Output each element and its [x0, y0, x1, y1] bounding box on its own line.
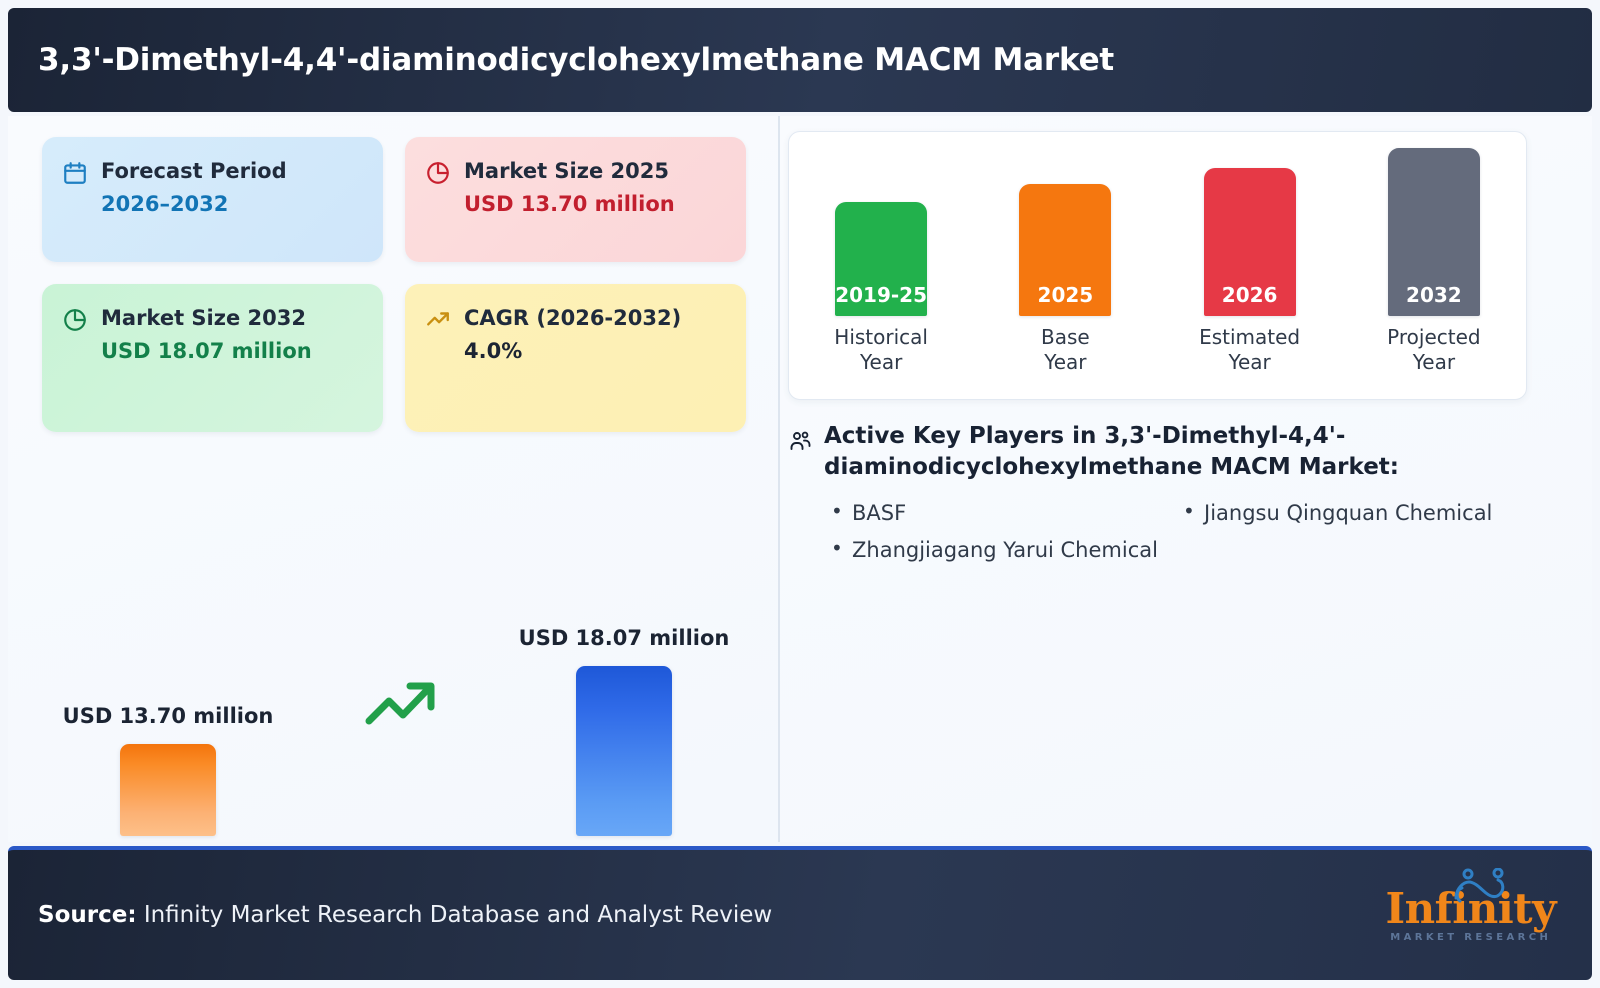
key-players-title: Active Key Players in 3,3'-Dimethyl-4,4'…: [824, 421, 1496, 484]
timeline-card: 2019-25 Historical Year 2025 Base: [788, 131, 1527, 400]
key-players-column-right: Jiangsu Qingquan Chemical: [1176, 498, 1528, 572]
kpi-header: Forecast Period: [62, 158, 361, 186]
timeline-caption-line2: Year: [1041, 350, 1090, 375]
timeline-bar: 2032: [1388, 148, 1480, 316]
timeline-caption-line2: Year: [1199, 350, 1300, 375]
pie-chart-icon: [62, 307, 88, 333]
key-players-header: Active Key Players in 3,3'-Dimethyl-4,4'…: [788, 421, 1528, 484]
kpi-card-grid: Forecast Period 2026–2032 Market Size: [42, 137, 746, 432]
logo-tagline: MARKET RESEARCH: [1385, 933, 1556, 943]
kpi-header: CAGR (2026-2032): [425, 305, 724, 333]
bar-value-label: USD 13.70 million: [48, 704, 288, 728]
chart-bar-group-2032: USD 18.07 million 2032: [504, 626, 744, 873]
timeline-bar-year: 2026: [1222, 283, 1278, 316]
timeline-item-historical: 2019-25 Historical Year: [806, 202, 956, 375]
timeline-bars: 2019-25 Historical Year 2025 Base: [789, 147, 1526, 375]
timeline-bar-year: 2019-25: [835, 283, 927, 316]
timeline-caption: Historical Year: [834, 325, 928, 375]
kpi-label: Market Size 2032: [101, 305, 306, 332]
timeline-caption: Estimated Year: [1199, 325, 1300, 375]
kpi-value: 4.0%: [425, 338, 724, 365]
kpi-label: Market Size 2025: [464, 158, 669, 185]
timeline-bar: 2019-25: [835, 202, 927, 316]
key-players-section: Active Key Players in 3,3'-Dimethyl-4,4'…: [788, 421, 1528, 572]
footer-bar: Source: Infinity Market Research Databas…: [8, 846, 1592, 980]
timeline-caption: Projected Year: [1387, 325, 1480, 375]
body-area: Forecast Period 2026–2032 Market Size: [8, 116, 1592, 842]
kpi-card-cagr: CAGR (2026-2032) 4.0%: [405, 284, 746, 432]
kpi-label: Forecast Period: [101, 158, 287, 185]
timeline-item-base: 2025 Base Year: [990, 184, 1140, 375]
bar-value-label: USD 18.07 million: [504, 626, 744, 650]
timeline-caption-line1: Projected: [1387, 325, 1480, 350]
timeline-bar-year: 2025: [1038, 283, 1094, 316]
pie-chart-icon: [425, 160, 451, 186]
key-players-column-left: BASF Zhangjiagang Yarui Chemical: [824, 498, 1176, 572]
calendar-icon: [62, 160, 88, 186]
page-title: 3,3'-Dimethyl-4,4'-diaminodicyclohexylme…: [8, 42, 1114, 78]
kpi-value: USD 18.07 million: [62, 338, 361, 365]
infinity-people-icon: [1446, 868, 1520, 906]
timeline-item-projected: 2032 Projected Year: [1359, 148, 1509, 375]
growth-arrow-icon: [363, 674, 439, 734]
timeline-bar-year: 2032: [1406, 283, 1462, 316]
list-item: Jiangsu Qingquan Chemical: [1176, 498, 1528, 528]
kpi-card-market-size-2025: Market Size 2025 USD 13.70 million: [405, 137, 746, 262]
trending-up-icon: [425, 307, 451, 333]
people-icon: [788, 429, 812, 453]
kpi-card-market-size-2032: Market Size 2032 USD 18.07 million: [42, 284, 383, 432]
timeline-bar: 2025: [1019, 184, 1111, 316]
source-text: Infinity Market Research Database and An…: [137, 902, 773, 928]
kpi-value: USD 13.70 million: [425, 191, 724, 218]
timeline-caption-line2: Year: [834, 350, 928, 375]
left-panel: Forecast Period 2026–2032 Market Size: [8, 116, 778, 842]
timeline-caption-line1: Base: [1041, 325, 1090, 350]
infographic-root: 3,3'-Dimethyl-4,4'-diaminodicyclohexylme…: [0, 0, 1600, 988]
kpi-label: CAGR (2026-2032): [464, 305, 681, 332]
kpi-header: Market Size 2025: [425, 158, 724, 186]
list-item: BASF: [824, 498, 1176, 528]
timeline-caption-line1: Estimated: [1199, 325, 1300, 350]
source-attribution: Source: Infinity Market Research Databas…: [8, 902, 772, 928]
source-label: Source:: [38, 902, 137, 928]
list-item: Zhangjiagang Yarui Chemical: [824, 535, 1176, 565]
timeline-caption-line1: Historical: [834, 325, 928, 350]
header-bar: 3,3'-Dimethyl-4,4'-diaminodicyclohexylme…: [8, 8, 1592, 112]
kpi-card-forecast-period: Forecast Period 2026–2032: [42, 137, 383, 262]
bar-2025: [120, 744, 216, 836]
brand-logo: Infinity MARKET RESEARCH: [1385, 888, 1592, 943]
timeline-item-estimated: 2026 Estimated Year: [1175, 168, 1325, 375]
right-panel: 2019-25 Historical Year 2025 Base: [780, 116, 1592, 842]
timeline-caption-line2: Year: [1387, 350, 1480, 375]
key-players-columns: BASF Zhangjiagang Yarui Chemical Jiangsu…: [788, 498, 1528, 572]
bar-2032: [576, 666, 672, 836]
timeline-caption: Base Year: [1041, 325, 1090, 375]
kpi-header: Market Size 2032: [62, 305, 361, 333]
growth-bar-chart: USD 13.70 million 2025 USD 18.07 million…: [8, 586, 778, 842]
timeline-bar: 2026: [1204, 168, 1296, 316]
kpi-value: 2026–2032: [62, 191, 361, 218]
